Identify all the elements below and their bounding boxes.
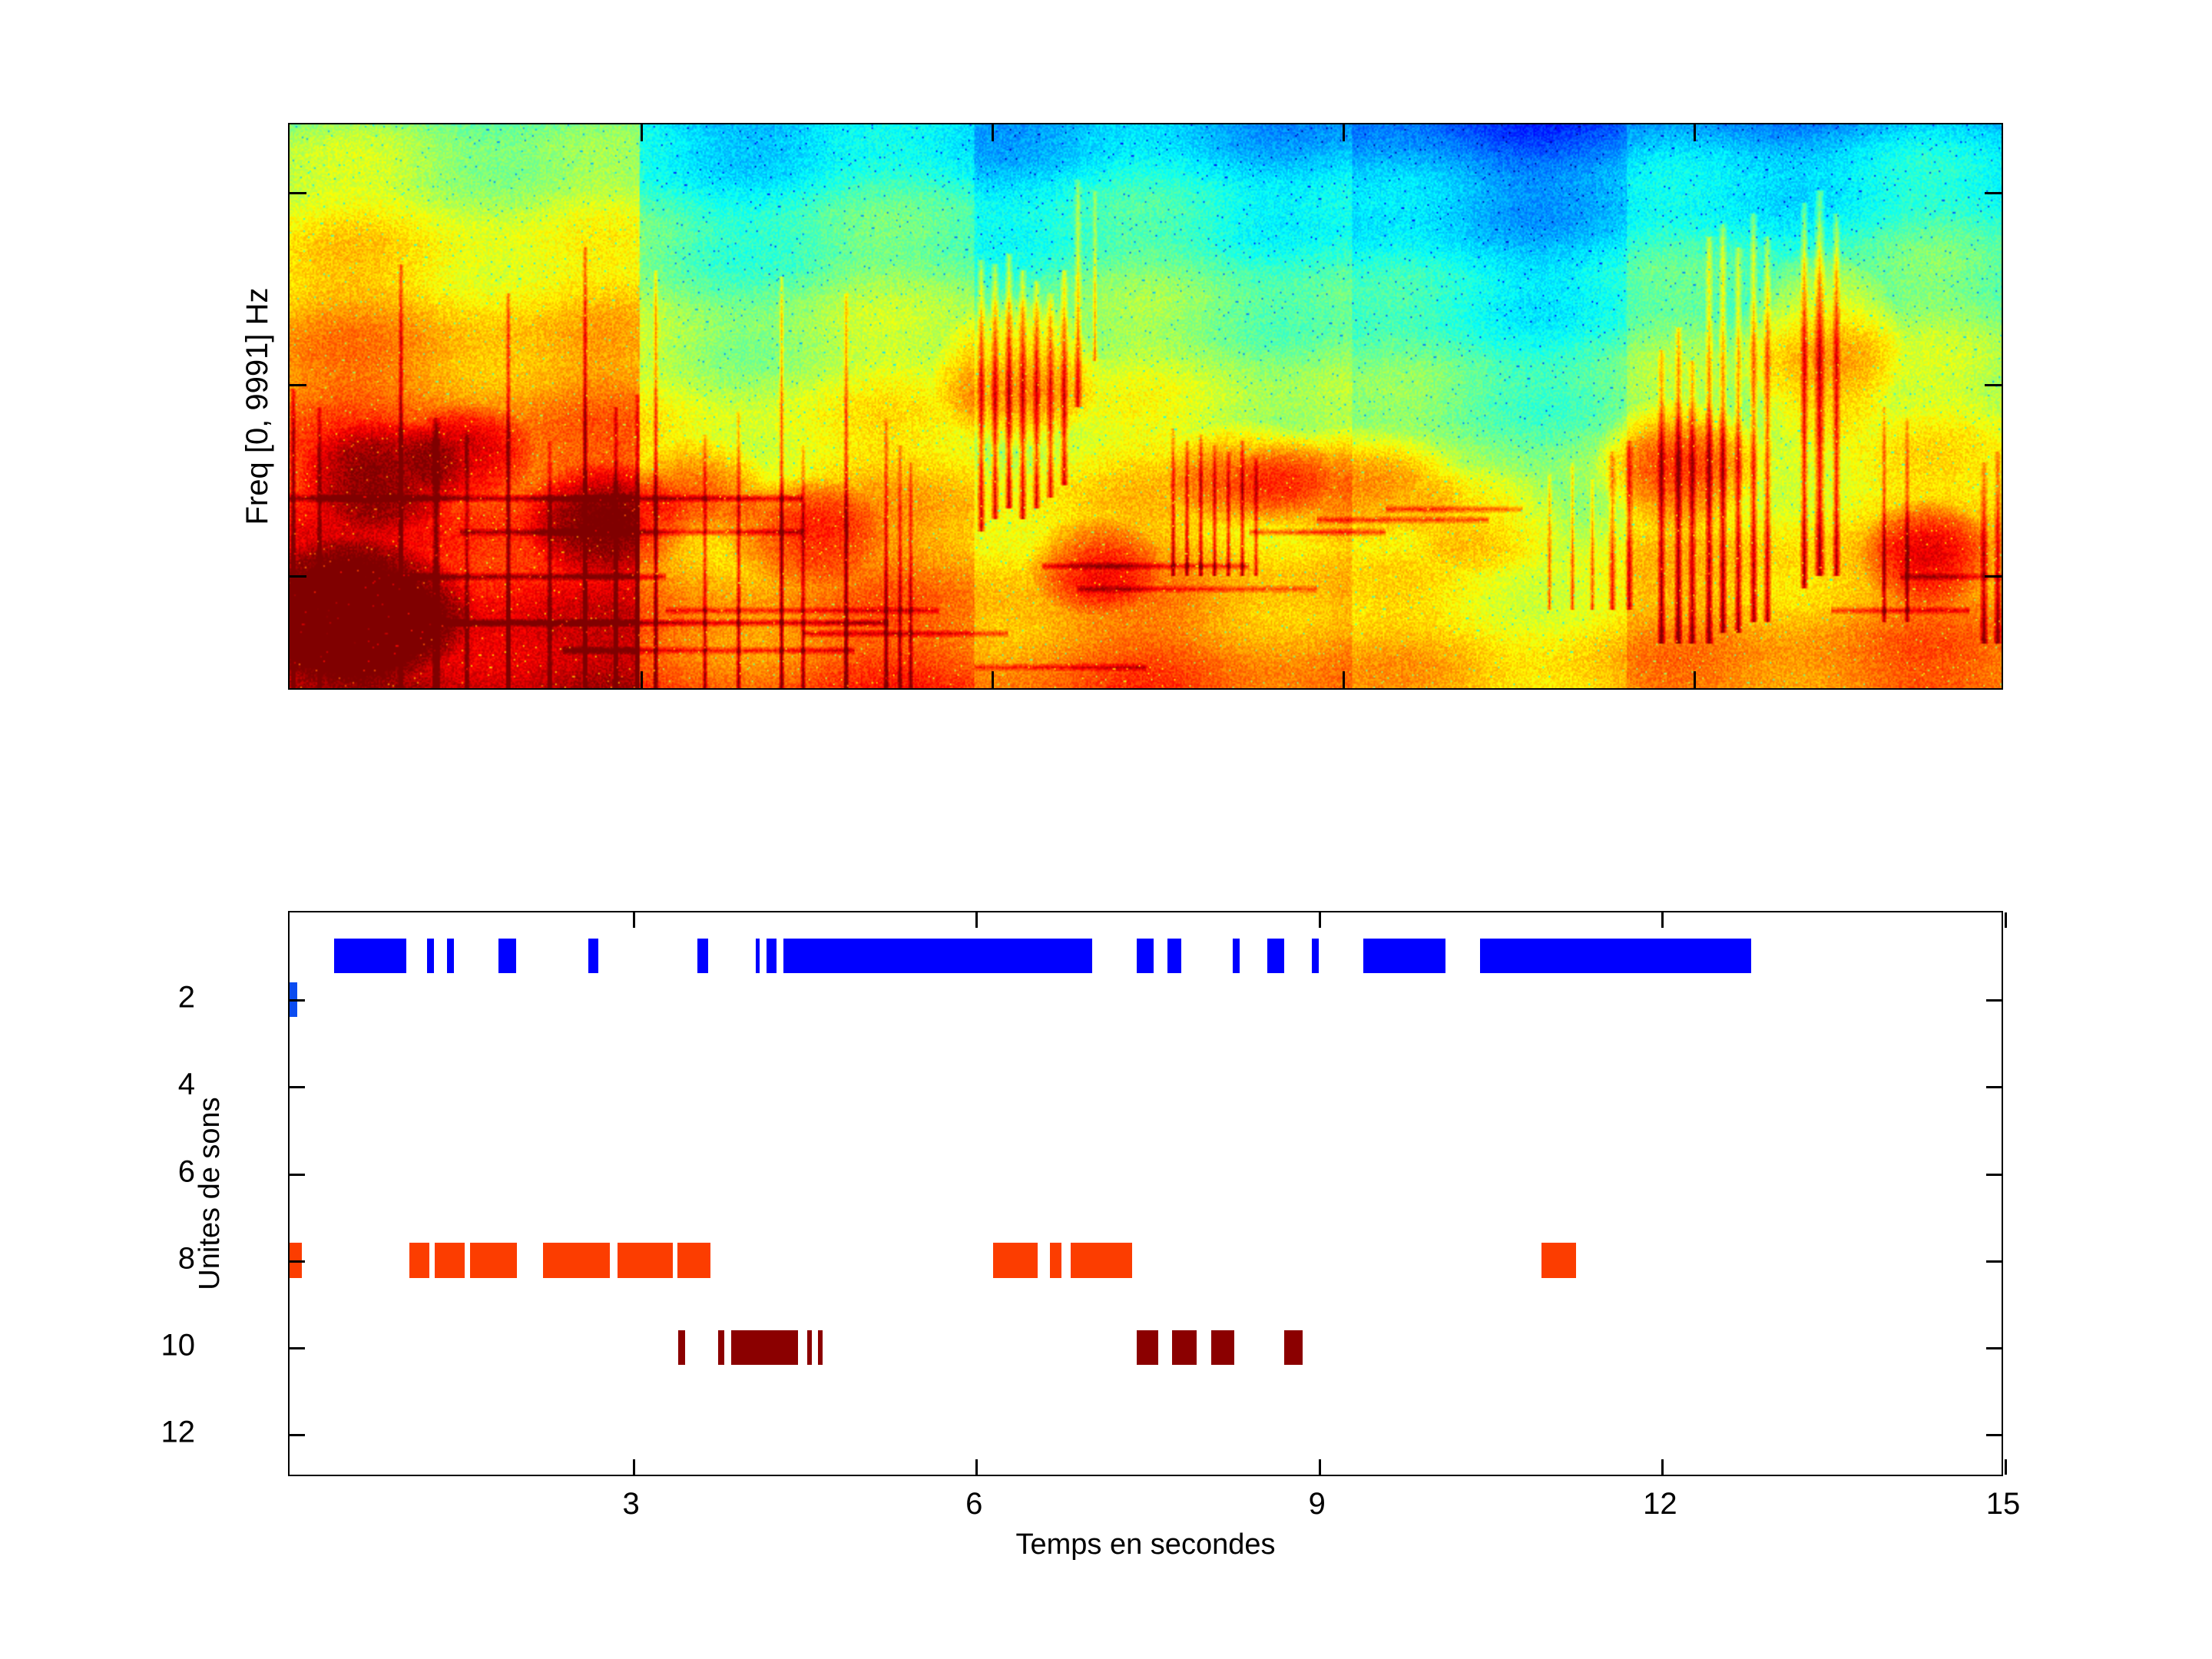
- unit-activation-bar: [447, 939, 454, 973]
- units-ytick: [290, 1434, 305, 1436]
- unit-activation-bar: [993, 1243, 1038, 1277]
- unit-activation-bar: [409, 1243, 429, 1277]
- unit-activation-bar: [1541, 1243, 1576, 1277]
- sound-units-plot-area: [290, 912, 2002, 1475]
- unit-activation-bar: [334, 939, 406, 973]
- spectrogram-image: [288, 123, 2003, 690]
- unit-activation-bar: [1172, 1330, 1196, 1365]
- sound-units-panel: [288, 911, 2003, 1476]
- units-xtick: [1319, 1459, 1321, 1475]
- units-ytick: [1986, 999, 2002, 1002]
- unit-activation-bar: [1211, 1330, 1234, 1365]
- unit-activation-bar: [1267, 939, 1284, 973]
- units-ytick: [1986, 1434, 2002, 1436]
- unit-activation-bar: [818, 1330, 823, 1365]
- units-xtick-label: 15: [1957, 1487, 2049, 1522]
- spectrogram-panel: [288, 123, 2003, 690]
- units-xtick: [633, 1459, 635, 1475]
- units-ytick: [290, 1260, 305, 1263]
- unit-activation-bar: [1137, 939, 1154, 973]
- unit-activation-bar: [588, 939, 598, 973]
- units-xtick: [2005, 1459, 2007, 1475]
- units-xtick: [1661, 912, 1664, 928]
- units-xtick: [633, 912, 635, 928]
- unit-activation-bar: [1480, 939, 1751, 973]
- unit-activation-bar: [1071, 1243, 1132, 1277]
- units-xtick-label: 6: [928, 1487, 1020, 1522]
- units-ytick-label: 6: [103, 1154, 195, 1189]
- units-ytick-label: 12: [103, 1416, 195, 1450]
- unit-activation-bar: [427, 939, 434, 973]
- units-xtick: [975, 912, 978, 928]
- unit-activation-bar: [678, 1330, 685, 1365]
- units-ytick: [1986, 1260, 2002, 1263]
- units-xtick: [1661, 1459, 1664, 1475]
- unit-activation-bar: [677, 1243, 710, 1277]
- units-xtick: [2005, 912, 2007, 928]
- units-ytick-label: 8: [103, 1241, 195, 1276]
- unit-activation-bar: [731, 1330, 799, 1365]
- unit-activation-bar: [618, 1243, 672, 1277]
- units-ytick: [290, 1174, 305, 1176]
- units-ytick: [290, 999, 305, 1002]
- unit-activation-bar: [1284, 1330, 1303, 1365]
- unit-activation-bar: [435, 1243, 465, 1277]
- units-xtick-label: 9: [1271, 1487, 1363, 1522]
- units-ytick-label: 2: [103, 981, 195, 1015]
- units-ytick: [290, 1086, 305, 1088]
- units-xtick-label: 12: [1614, 1487, 1706, 1522]
- figure-root: Freq [0, 9991] Hz Unites de sons Temps e…: [0, 0, 2212, 1659]
- units-xtick-label: 3: [585, 1487, 677, 1522]
- units-ytick: [1986, 1347, 2002, 1349]
- units-ytick: [1986, 1174, 2002, 1176]
- unit-activation-bar: [470, 1243, 517, 1277]
- unit-activation-bar: [697, 939, 707, 973]
- unit-activation-bar: [1167, 939, 1181, 973]
- unit-activation-bar: [1050, 1243, 1061, 1277]
- unit-activation-bar: [1137, 1330, 1158, 1365]
- units-x-axis-label: Temps en secondes: [288, 1528, 2003, 1561]
- unit-activation-bar: [498, 939, 515, 973]
- unit-activation-bar: [1363, 939, 1445, 973]
- units-xtick: [975, 1459, 978, 1475]
- units-ytick: [1986, 1086, 2002, 1088]
- unit-activation-bar: [783, 939, 1092, 973]
- unit-activation-bar: [807, 1330, 812, 1365]
- units-ytick: [290, 1347, 305, 1349]
- spectrogram-y-axis-label: Freq [0, 9991] Hz: [234, 123, 280, 690]
- units-ytick-label: 10: [103, 1329, 195, 1363]
- unit-activation-bar: [1233, 939, 1240, 973]
- unit-activation-bar: [1312, 939, 1319, 973]
- units-xtick: [1319, 912, 1321, 928]
- unit-activation-bar: [756, 939, 759, 973]
- unit-activation-bar: [767, 939, 777, 973]
- unit-activation-bar: [718, 1330, 724, 1365]
- units-ytick-label: 4: [103, 1068, 195, 1102]
- unit-activation-bar: [543, 1243, 609, 1277]
